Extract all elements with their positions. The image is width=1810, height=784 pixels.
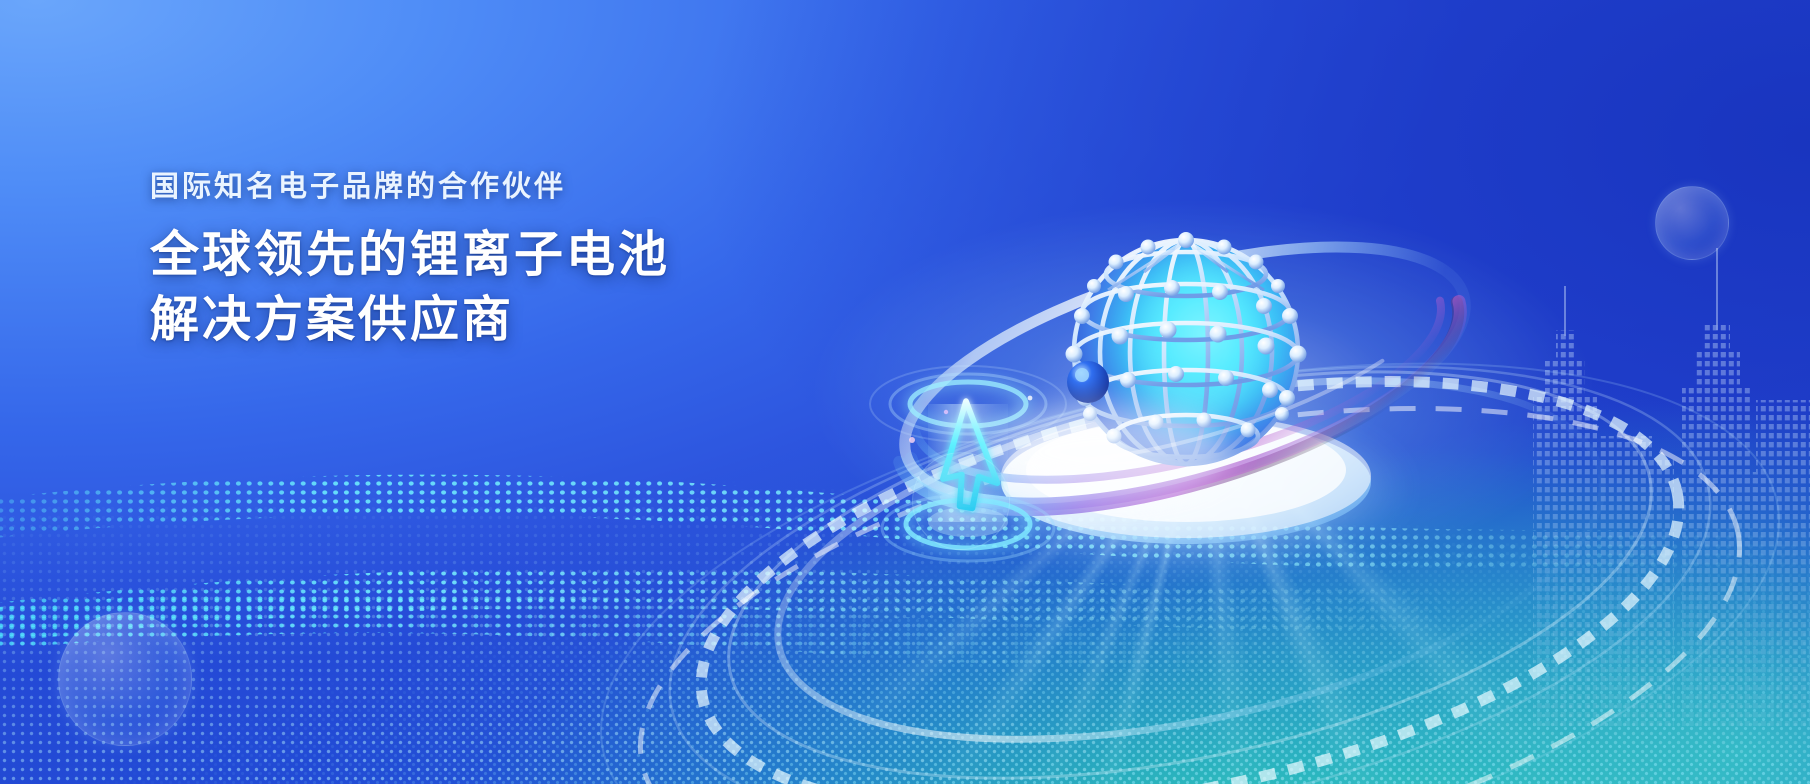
eyebrow-text: 国际知名电子品牌的合作伙伴 <box>150 168 870 207</box>
headline-line-2: 解决方案供应商 <box>150 288 870 353</box>
hero-banner: 国际知名电子品牌的合作伙伴 全球领先的锂离子电池 解决方案供应商 <box>0 0 1810 784</box>
hero-illustration <box>0 0 1810 784</box>
hero-copy: 国际知名电子品牌的合作伙伴 全球领先的锂离子电池 解决方案供应商 <box>150 168 870 353</box>
headline-line-1: 全球领先的锂离子电池 <box>150 223 870 288</box>
